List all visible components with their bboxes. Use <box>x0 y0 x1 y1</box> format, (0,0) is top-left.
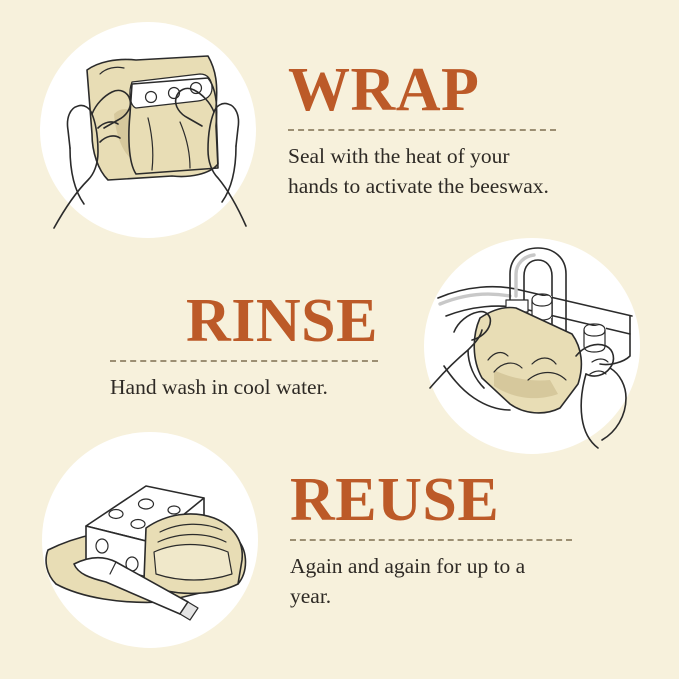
heading-rinse: RINSE <box>110 290 378 353</box>
text-block-wrap: WRAP Seal with the heat of your hands to… <box>256 59 640 201</box>
text-block-rinse: RINSE Hand wash in cool water. <box>110 290 424 402</box>
hands-wrapping-cheese-icon <box>40 22 256 238</box>
step-wrap: WRAP Seal with the heat of your hands to… <box>40 14 640 246</box>
step-reuse: REUSE Again and again for up to a year. <box>42 424 642 656</box>
body-wrap: Seal with the heat of your hands to acti… <box>288 142 556 200</box>
wrapped-cheese-block-knife-icon <box>42 432 258 648</box>
divider-reuse <box>290 539 572 541</box>
text-block-reuse: REUSE Again and again for up to a year. <box>258 469 642 611</box>
body-reuse: Again and again for up to a year. <box>290 552 558 610</box>
divider-rinse <box>110 360 378 362</box>
hands-rinsing-wrap-faucet-icon <box>424 238 640 454</box>
illustration-wrap <box>40 22 256 238</box>
infographic-root: WRAP Seal with the heat of your hands to… <box>0 0 679 679</box>
heading-reuse: REUSE <box>290 469 572 532</box>
heading-wrap: WRAP <box>288 59 556 122</box>
divider-wrap <box>288 129 556 131</box>
illustration-reuse <box>42 432 258 648</box>
body-rinse: Hand wash in cool water. <box>110 373 378 402</box>
illustration-rinse <box>424 238 640 454</box>
